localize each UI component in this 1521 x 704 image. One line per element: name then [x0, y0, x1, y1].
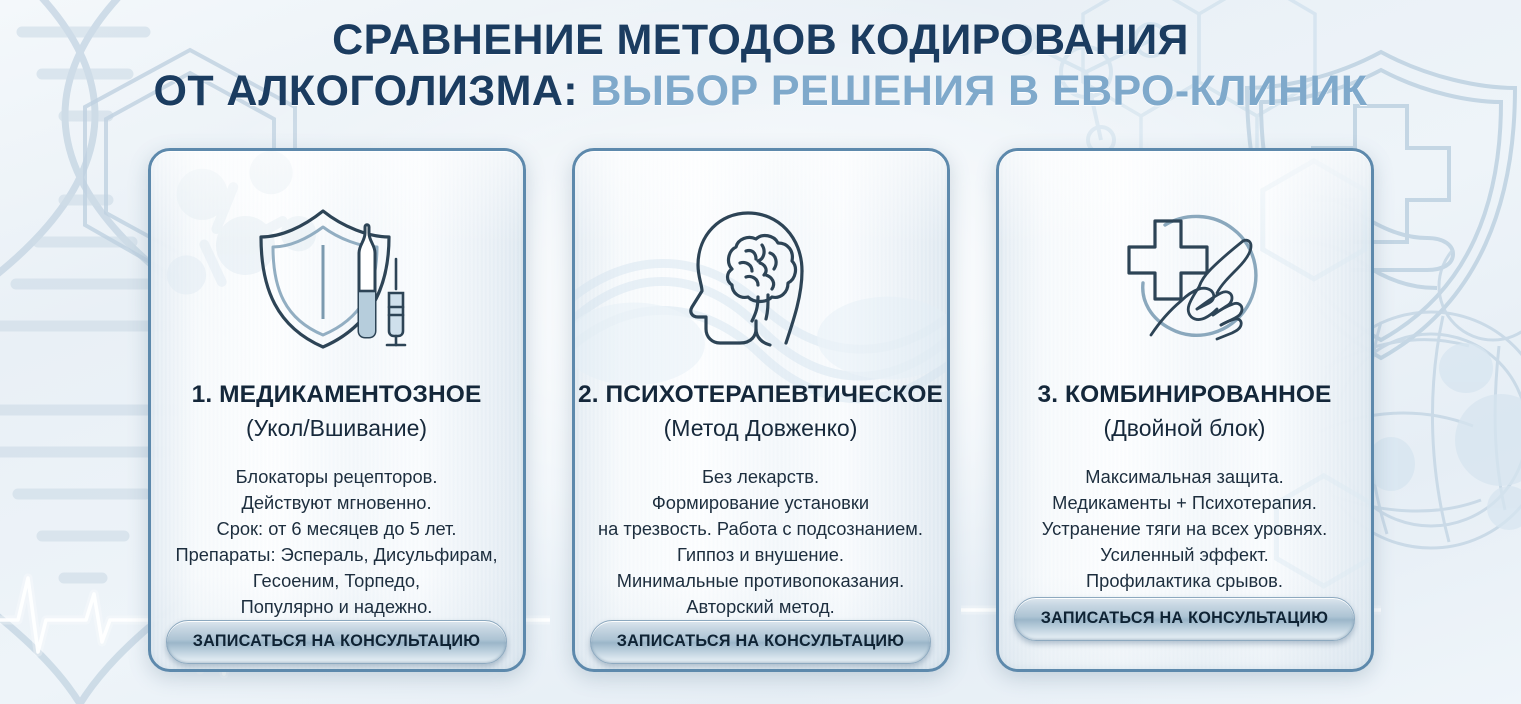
- consultation-button[interactable]: ЗАПИСАТЬСЯ НА КОНСУЛЬТАЦИЮ: [590, 620, 932, 664]
- description-line: Гесоеним, Торпедо,: [175, 568, 497, 594]
- description-line: Без лекарств.: [598, 464, 923, 490]
- head-brain-icon: [686, 203, 836, 353]
- card-title: 3. КОМБИНИРОВАННОЕ: [1037, 381, 1331, 409]
- description-line: Минимальные противопоказания.: [598, 568, 923, 594]
- title-line-2-dark-part: ОТ АЛКОГОЛИЗМА:: [154, 67, 591, 115]
- card-description: Максимальная защита. Медикаменты + Психо…: [1036, 464, 1333, 594]
- cross-helping-hands-icon: [1101, 205, 1269, 351]
- title-line-2-light-part: ВЫБОР РЕШЕНИЯ В ЕВРО-КЛИНИК: [590, 67, 1367, 115]
- description-line: на трезвость. Работа с подсознанием.: [598, 516, 923, 542]
- description-line: Формирование установки: [598, 490, 923, 516]
- method-card-psychotherapy[interactable]: 2. ПСИХОТЕРАПЕВТИЧЕСКОЕ (Метод Довженко)…: [572, 148, 950, 672]
- title-line-1: СРАВНЕНИЕ МЕТОДОВ КОДИРОВАНИЯ: [0, 16, 1521, 65]
- description-line: Препараты: Эспераль, Дисульфирам,: [175, 542, 497, 568]
- poster-title: СРАВНЕНИЕ МЕТОДОВ КОДИРОВАНИЯ ОТ АЛКОГОЛ…: [0, 16, 1521, 116]
- method-card-combined[interactable]: 3. КОМБИНИРОВАННОЕ (Двойной блок) Максим…: [996, 148, 1374, 672]
- description-line: Устранение тяги на всех уровнях.: [1042, 516, 1327, 542]
- description-line: Срок: от 6 месяцев до 5 лет.: [175, 516, 497, 542]
- shield-ampoule-syringe-icon: [257, 203, 417, 353]
- card-subtitle: (Метод Довженко): [664, 415, 858, 442]
- description-line: Популярно и надежно.: [175, 594, 497, 620]
- description-line: Усиленный эффект.: [1042, 542, 1327, 568]
- card-icon-container: [1101, 203, 1269, 353]
- card-subtitle: (Двойной блок): [1104, 415, 1266, 442]
- card-description: Блокаторы рецепторов. Действуют мгновенн…: [169, 464, 503, 620]
- description-line: Гиппоз и внушение.: [598, 542, 923, 568]
- card-icon-container: [257, 203, 417, 353]
- description-line: Медикаменты + Психотерапия.: [1042, 490, 1327, 516]
- card-title: 2. ПСИХОТЕРАПЕВТИЧЕСКОЕ: [578, 381, 943, 409]
- card-subtitle: (Укол/Вшивание): [246, 415, 427, 442]
- poster-canvas: СРАВНЕНИЕ МЕТОДОВ КОДИРОВАНИЯ ОТ АЛКОГОЛ…: [0, 0, 1521, 704]
- description-line: Авторский метод.: [598, 594, 923, 620]
- description-line: Блокаторы рецепторов.: [175, 464, 497, 490]
- consultation-button[interactable]: ЗАПИСАТЬСЯ НА КОНСУЛЬТАЦИЮ: [1014, 597, 1356, 641]
- description-line: Максимальная защита.: [1042, 464, 1327, 490]
- consultation-button[interactable]: ЗАПИСАТЬСЯ НА КОНСУЛЬТАЦИЮ: [166, 620, 508, 664]
- description-line: Профилактика срывов.: [1042, 568, 1327, 594]
- card-title: 1. МЕДИКАМЕНТОЗНОЕ: [192, 381, 482, 409]
- method-cards-row: 1. МЕДИКАМЕНТОЗНОЕ (Укол/Вшивание) Блока…: [0, 148, 1521, 676]
- title-line-2: ОТ АЛКОГОЛИЗМА: ВЫБОР РЕШЕНИЯ В ЕВРО-КЛИ…: [0, 67, 1521, 116]
- card-description: Без лекарств. Формирование установки на …: [592, 464, 929, 620]
- method-card-medication[interactable]: 1. МЕДИКАМЕНТОЗНОЕ (Укол/Вшивание) Блока…: [148, 148, 526, 672]
- description-line: Действуют мгновенно.: [175, 490, 497, 516]
- card-icon-container: [686, 203, 836, 353]
